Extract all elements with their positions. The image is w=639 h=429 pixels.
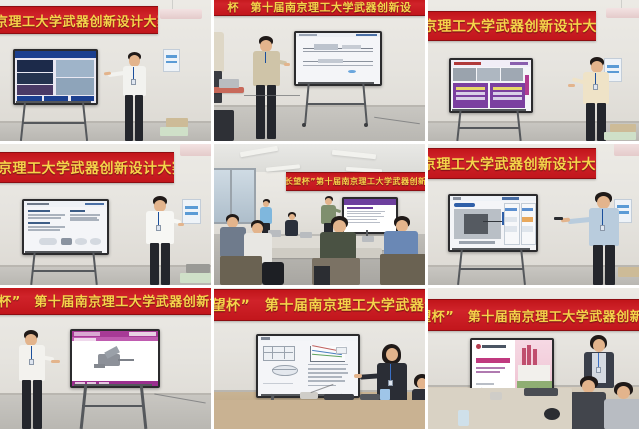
laptop [300, 232, 312, 238]
chair [380, 254, 425, 285]
seated-judge [568, 376, 608, 429]
microphone-base [324, 394, 354, 400]
cardboard-box [618, 267, 639, 277]
computer-tower [314, 266, 330, 285]
photo-collage: 南京理工大学武器创新设计大赛 [0, 0, 639, 429]
floor-item [604, 132, 636, 140]
event-banner: 南京理工大学武器创新设计大赛 [0, 152, 174, 183]
wall-poster [163, 49, 180, 72]
slide-content [258, 336, 358, 396]
slide-content [450, 196, 536, 250]
chandelier-light [160, 9, 202, 19]
chair [220, 256, 262, 285]
room-scene: 杯 第十届南京理工大学武器创新设 [214, 0, 425, 141]
presenter [118, 52, 152, 141]
collage-cell-3[interactable]: 南京理工大学武器创新设计大赛 [428, 0, 639, 141]
microphone-base [360, 394, 380, 400]
presenter [18, 330, 52, 429]
chair [214, 110, 234, 141]
chandelier-light [614, 144, 639, 156]
display-stand [452, 248, 530, 250]
room-scene: “长望杯”第十届南京理工大学武器创新设 [214, 144, 425, 285]
room-scene: 南京理工大学武器创新设计大赛 [0, 144, 211, 285]
room-scene: 南京理工大学武器创新设计大赛 [0, 0, 211, 141]
presenter-remote [554, 217, 563, 220]
presenter [142, 196, 178, 285]
floor-item [160, 127, 188, 136]
presentation-display [448, 194, 538, 252]
stand-wheel [364, 123, 368, 127]
slide-content [15, 51, 96, 103]
display-stand [452, 109, 526, 111]
event-banner: 南京理工大学武器创新设计大赛 [0, 6, 158, 34]
slide-content [72, 331, 158, 386]
stand-crossbar [459, 268, 524, 270]
chandelier-light [606, 8, 639, 18]
floor-item [180, 273, 211, 283]
presenter [578, 57, 614, 141]
room-scene: 理杯” 第十届南京理工大学武器创新设 [0, 288, 211, 429]
window-mullion [230, 168, 232, 220]
table-item [300, 392, 318, 399]
presentation-display [70, 329, 160, 388]
presentation-display [22, 199, 109, 255]
event-banner: “长望杯” 第十届南京理工大学武器创新设计 [428, 299, 639, 331]
stand-crossbar [32, 270, 96, 272]
display-stand [25, 251, 102, 253]
presentation-display [256, 334, 360, 398]
event-banner: “长望杯”第十届南京理工大学武器创新设 [286, 172, 425, 191]
slide-content [472, 340, 552, 390]
event-banner: 南京理工大学武器创新设计大赛 [428, 148, 596, 179]
presentation-display [13, 49, 98, 105]
collage-cell-4[interactable]: 南京理工大学武器创新设计大赛 [0, 144, 211, 285]
room-scene: 南京理工大学武器创新设计大赛 [428, 0, 639, 141]
slide-content [296, 33, 380, 84]
backpack [262, 262, 284, 285]
stand-crossbar [458, 127, 520, 129]
baseboard [214, 105, 425, 107]
presentation-display [294, 31, 382, 86]
stand-crossbar [82, 405, 144, 407]
cable [244, 95, 300, 96]
laptop [219, 79, 239, 88]
event-banner: 长望杯” 第十届南京理工大学武器创 [214, 289, 425, 321]
table-item [490, 392, 502, 400]
event-banner: 南京理工大学武器创新设计大赛 [428, 11, 596, 41]
collage-cell-8[interactable]: 长望杯” 第十届南京理工大学武器创 [214, 288, 425, 429]
presenter [251, 36, 285, 141]
collage-cell-6[interactable]: 南京理工大学武器创新设计大赛 [428, 144, 639, 285]
cardboard-box [166, 118, 188, 127]
water-bottle [380, 389, 390, 400]
seated-judge [604, 382, 639, 429]
stand-crossbar [22, 122, 86, 124]
collage-cell-5[interactable]: “长望杯”第十届南京理工大学武器创新设 [214, 144, 425, 285]
collage-cell-2[interactable]: 杯 第十届南京理工大学武器创新设 [214, 0, 425, 141]
laptop [362, 236, 374, 242]
floor [214, 107, 425, 141]
collage-cell-9[interactable]: “长望杯” 第十届南京理工大学武器创新设计 [428, 288, 639, 429]
collage-cell-1[interactable]: 南京理工大学武器创新设计大赛 [0, 0, 211, 141]
room-scene: “长望杯” 第十届南京理工大学武器创新设计 [428, 288, 639, 429]
floor-item [186, 264, 210, 273]
slide-content [451, 60, 531, 111]
stand-crossbar [306, 103, 366, 105]
conference-table [214, 400, 425, 429]
stand-wheel [302, 123, 306, 127]
slide-content [24, 201, 107, 253]
presentation-display [449, 58, 533, 113]
presentation-display [470, 338, 554, 392]
room-scene: 长望杯” 第十届南京理工大学武器创 [214, 288, 425, 429]
event-banner: 理杯” 第十届南京理工大学武器创新设 [0, 288, 211, 315]
room-scene: 南京理工大学武器创新设计大赛 [428, 144, 639, 285]
cardboard-box [610, 124, 636, 132]
table-item [544, 408, 560, 420]
event-banner: 杯 第十届南京理工大学武器创新设 [214, 0, 425, 16]
chandelier-light [180, 144, 211, 156]
microphone-base [524, 388, 558, 396]
wall-poster [182, 199, 201, 224]
collage-cell-7[interactable]: 理杯” 第十届南京理工大学武器创新设 [0, 288, 211, 429]
water-bottle [458, 410, 469, 426]
display-stand [16, 101, 91, 103]
